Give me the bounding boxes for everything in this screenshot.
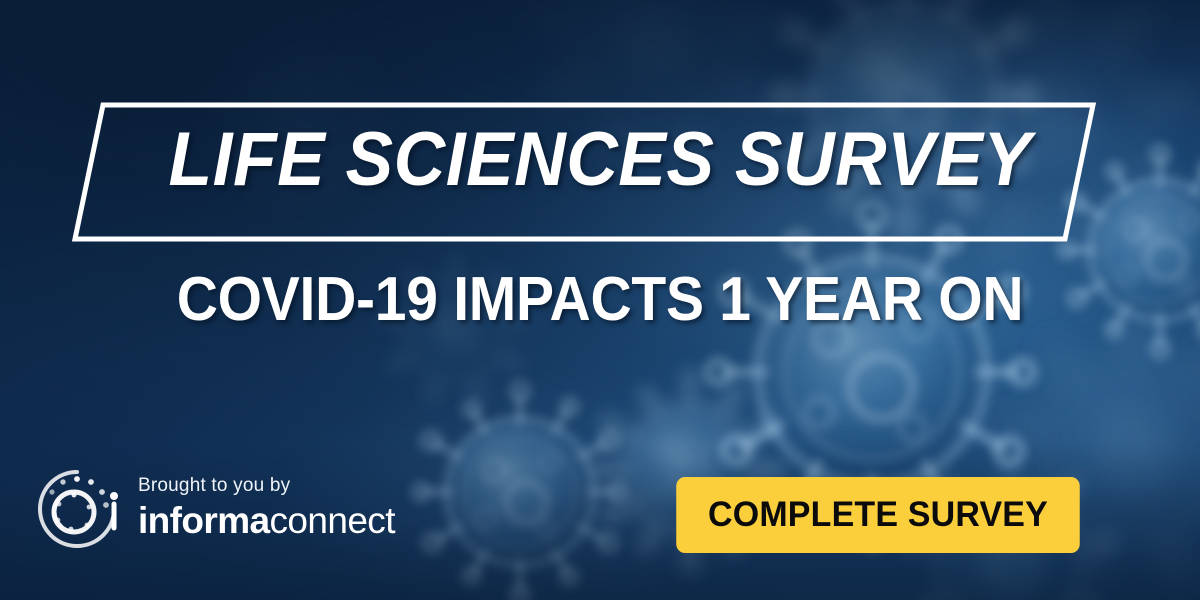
- page-title: LIFE SCIENCES SURVEY: [36, 118, 1164, 202]
- complete-survey-button[interactable]: COMPLETE SURVEY: [676, 477, 1080, 553]
- wordmark-informa: informa: [138, 500, 269, 541]
- brand-lockup: Brought to you by informaconnect: [34, 466, 395, 552]
- wordmark-connect: connect: [269, 500, 394, 541]
- survey-promo-banner: LIFE SCIENCES SURVEY COVID-19 IMPACTS 1 …: [0, 0, 1200, 600]
- brought-to-you-by-label: Brought to you by: [138, 474, 395, 498]
- page-subtitle: COVID-19 IMPACTS 1 YEAR ON: [48, 264, 1152, 336]
- informa-connect-wordmark: informaconnect: [138, 500, 395, 542]
- informa-rings-logo-icon: [34, 466, 120, 552]
- brand-text: Brought to you by informaconnect: [138, 474, 395, 544]
